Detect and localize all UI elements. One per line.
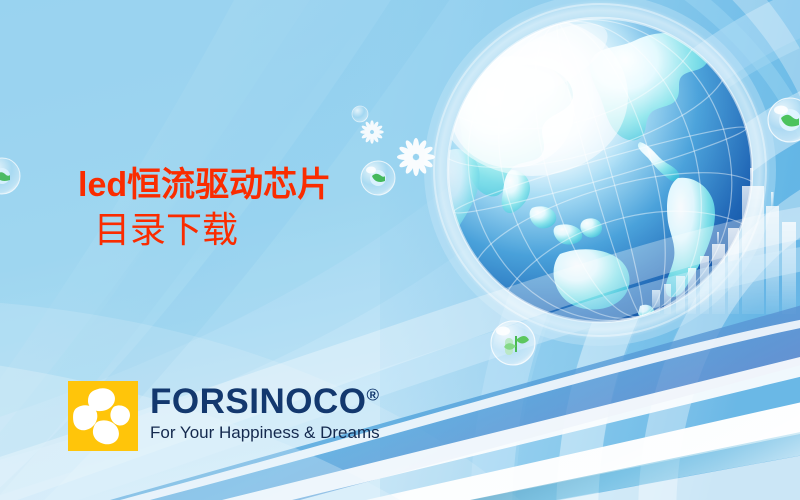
- bubble-small-icon: [352, 106, 368, 122]
- logo-name: FORSINOCO®: [150, 384, 380, 419]
- bubble-leaf-icon: [491, 321, 535, 365]
- registered-mark: ®: [366, 385, 379, 404]
- logo-name-text: FORSINOCO: [150, 382, 366, 421]
- logo-text: FORSINOCO® For Your Happiness & Dreams: [150, 381, 380, 441]
- logo-mark: [68, 381, 138, 451]
- four-petal-pinwheel-icon: [68, 381, 138, 451]
- brand-logo[interactable]: FORSINOCO® For Your Happiness & Dreams: [68, 381, 380, 451]
- bubble-globe-icon: [361, 161, 395, 195]
- banner-canvas: led恒流驱动芯片 目录下载 FORSINOCO®: [0, 0, 800, 500]
- logo-tagline: For Your Happiness & Dreams: [150, 424, 380, 441]
